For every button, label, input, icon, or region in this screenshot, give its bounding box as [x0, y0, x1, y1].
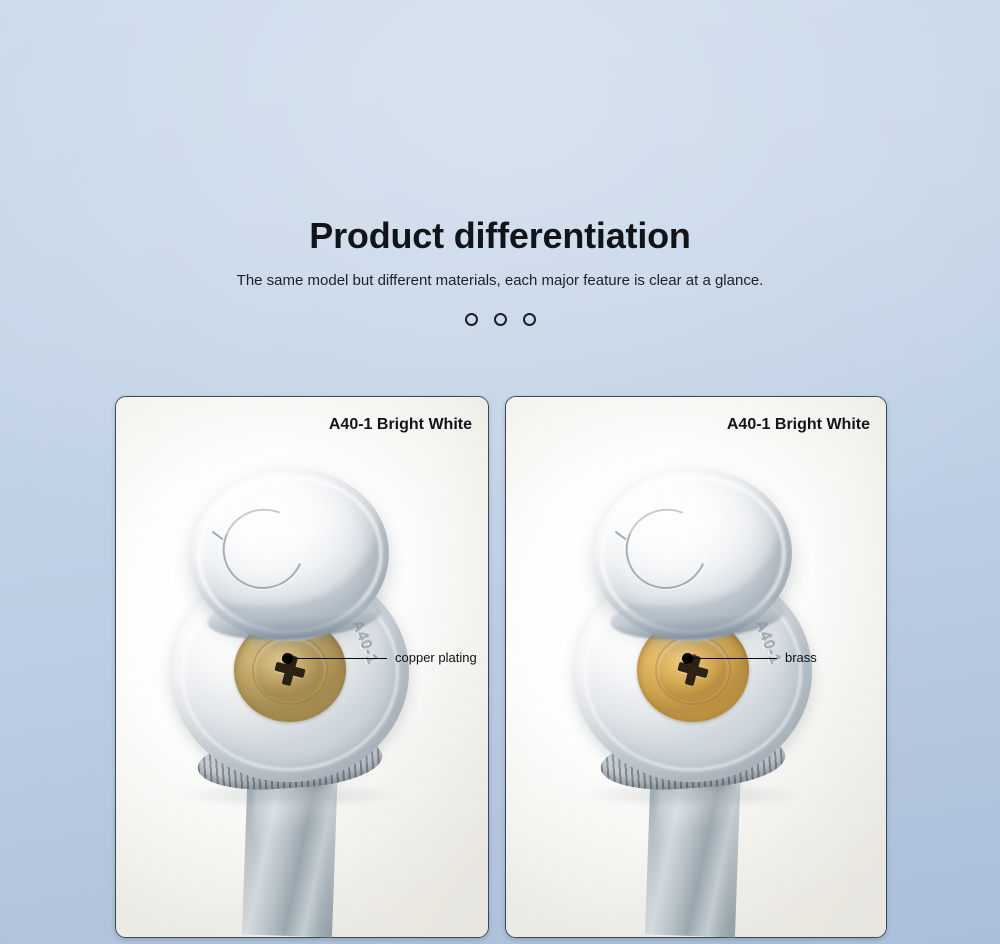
callout-left: copper plating: [282, 648, 477, 668]
callout-line-left: [293, 658, 387, 659]
copper-insert-inner-left: [252, 635, 327, 705]
rotation-arrow-icon-right: [613, 496, 719, 601]
page-title: Product differentiation: [0, 214, 1000, 258]
callout-right: brass: [682, 648, 817, 668]
product-card-right-title: A40-1 Bright White: [535, 415, 870, 435]
product-differentiation-page: Product differentiation The same model b…: [0, 0, 1000, 944]
product-image-left: A40-1: [150, 455, 430, 936]
callout-label-left: copper plating: [395, 650, 477, 666]
callout-label-right: brass: [785, 650, 817, 666]
product-card-left-title: A40-1 Bright White: [145, 415, 472, 435]
callout-dot-left: [282, 653, 293, 664]
brass-insert-inner-right: [655, 635, 730, 705]
carousel-dot-1[interactable]: [465, 313, 478, 326]
callout-line-right: [693, 658, 777, 659]
lock-cap-left: [185, 462, 395, 647]
page-subtitle: The same model but different materials, …: [0, 270, 1000, 292]
product-image-right: A40-1: [548, 455, 838, 936]
carousel-dot-2[interactable]: [494, 313, 507, 326]
carousel-dot-3[interactable]: [523, 313, 536, 326]
carousel-dots: [0, 313, 1000, 326]
callout-dot-right: [682, 653, 693, 664]
lock-cap-right: [588, 462, 798, 647]
rotation-arrow-icon-left: [210, 496, 316, 601]
